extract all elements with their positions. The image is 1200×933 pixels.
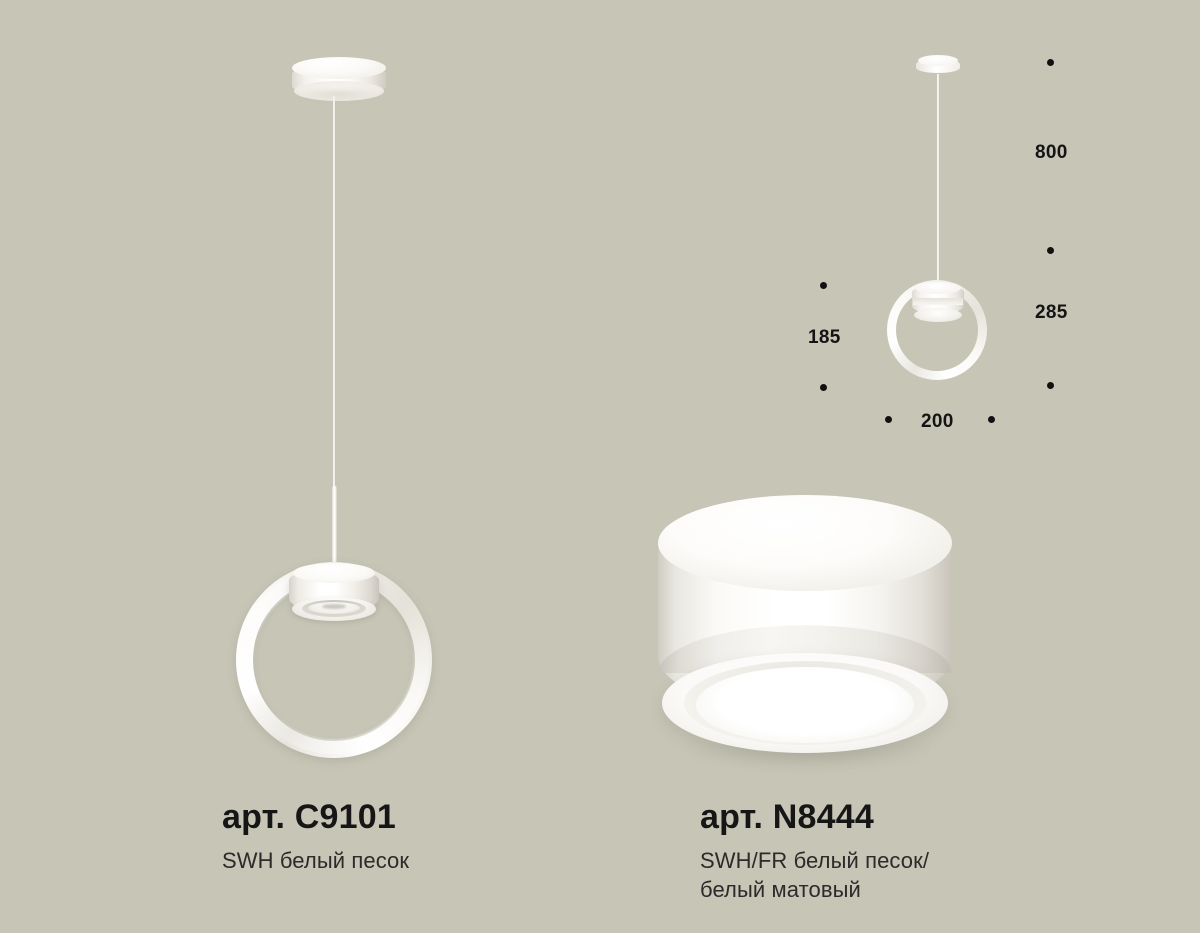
article-title-n8444: арт. N8444 — [700, 798, 929, 837]
diagram-head-lip — [914, 308, 962, 322]
diagram-canopy-top — [918, 55, 958, 66]
dimension-dot-ring-bottom — [820, 384, 827, 391]
article-finish-n8444-line2: белый матовый — [700, 877, 861, 902]
dimension-dot-width-left — [885, 416, 892, 423]
dimension-dot-width-right — [988, 416, 995, 423]
canopy-shadow — [298, 87, 380, 101]
article-title-c9101: арт. C9101 — [222, 798, 409, 837]
dimension-diagram: 800 285 185 200 — [780, 30, 1100, 450]
head-top-face — [293, 563, 375, 583]
article-finish-c9101: SWH белый песок — [222, 846, 409, 875]
canopy-top-face — [292, 57, 386, 79]
light-module-head — [289, 563, 379, 625]
head-lens-reflection — [322, 604, 346, 609]
suspension-cable — [333, 96, 335, 491]
dimension-label-ring-height: 185 — [808, 327, 841, 349]
dimension-dot-ring-top — [820, 282, 827, 289]
dimension-label-ring-width: 200 — [921, 411, 954, 433]
dimension-dot-fixture-bottom — [1047, 382, 1054, 389]
dimension-label-fixture-height: 285 — [1035, 302, 1068, 324]
suspension-rod — [332, 486, 337, 570]
caption-n8444: арт. N8444 SWH/FR белый песок/белый мато… — [700, 798, 929, 904]
dimension-dot-drop-top — [1047, 59, 1054, 66]
article-finish-n8444: SWH/FR белый песок/белый матовый — [700, 846, 929, 904]
cylinder-diffuser-glow — [712, 675, 898, 733]
dimension-dot-drop-bottom — [1047, 247, 1054, 254]
diagram-head — [912, 282, 964, 322]
product-image-c9101 — [0, 0, 600, 790]
diagram-cable — [937, 74, 939, 280]
product-sheet-canvas: 800 285 185 200 арт. C9101 SWH белый пес… — [0, 0, 1200, 933]
article-finish-n8444-line1: SWH/FR белый песок/ — [700, 848, 929, 873]
caption-c9101: арт. C9101 SWH белый песок — [222, 798, 409, 875]
diagram-head-groove — [913, 298, 963, 305]
ceiling-canopy — [292, 57, 386, 101]
product-image-n8444 — [600, 440, 1200, 790]
diagram-head-top — [915, 282, 961, 294]
dimension-label-total-drop: 800 — [1035, 142, 1068, 164]
cylinder-luminaire — [650, 495, 960, 765]
cylinder-top-face — [658, 495, 952, 591]
